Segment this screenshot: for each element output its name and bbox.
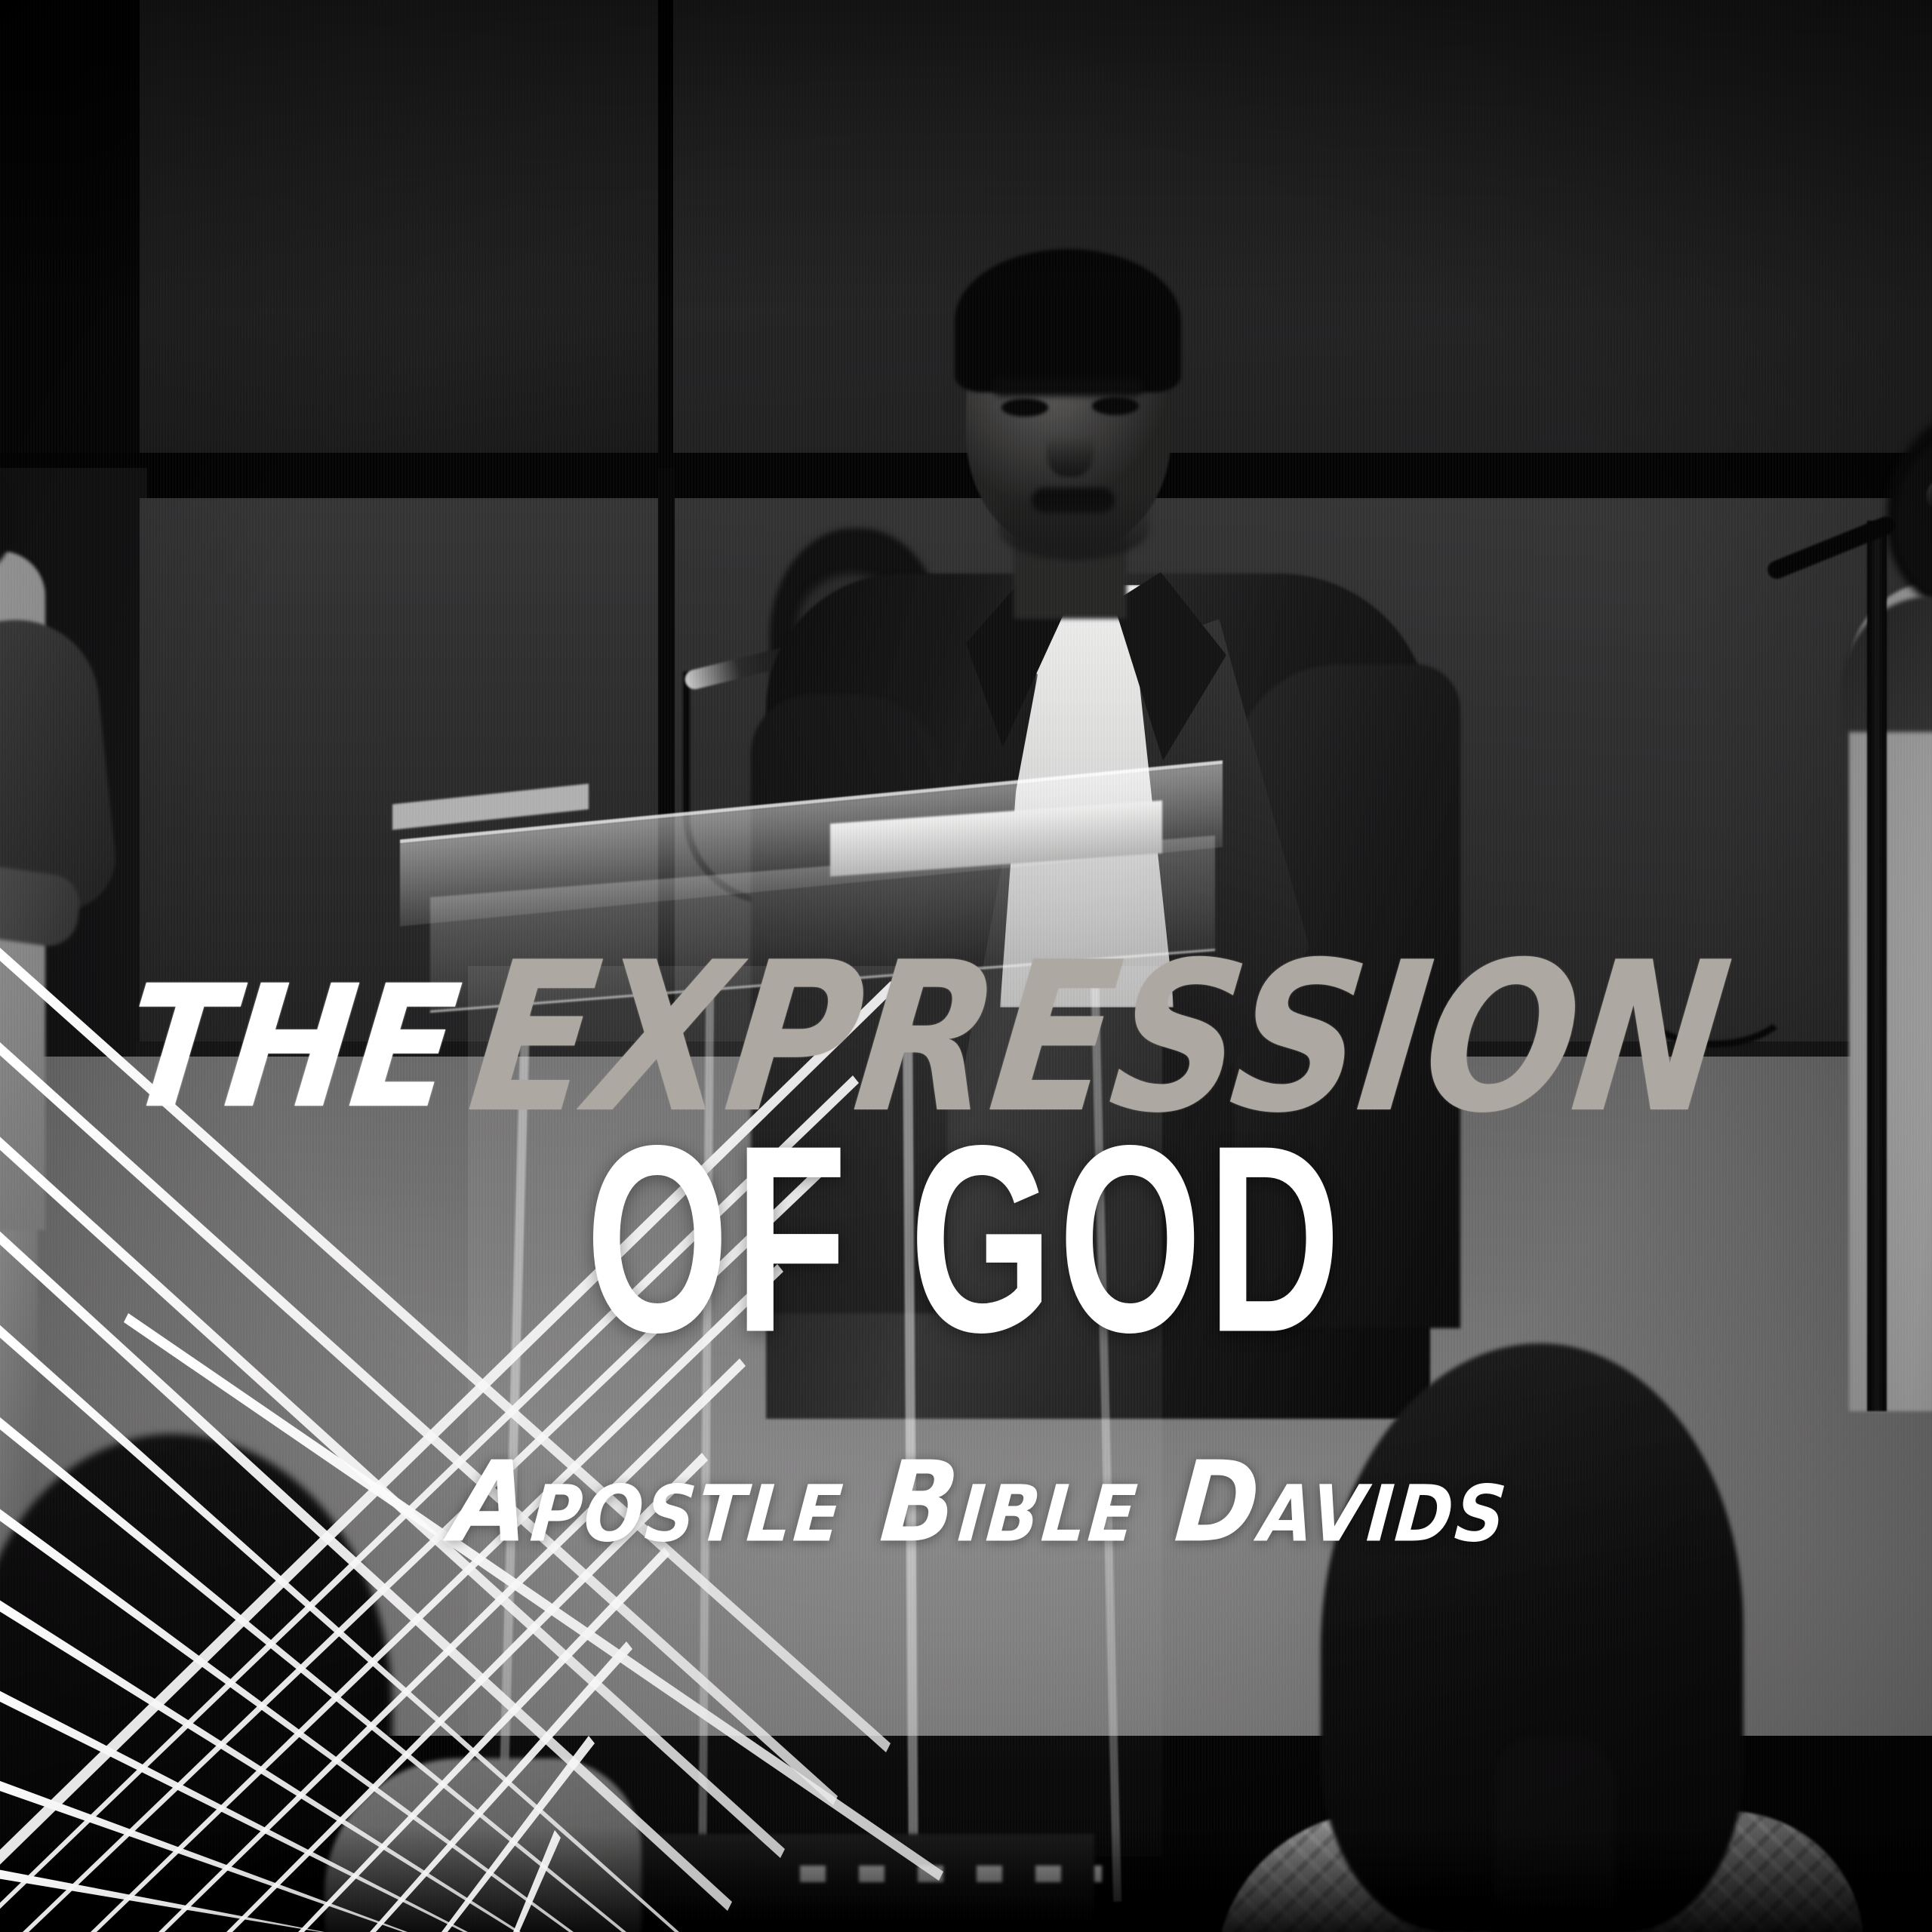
title-word-of-god: OF GOD <box>586 1106 1346 1372</box>
byline-line: Apostle Bible Davids <box>0 1453 1932 1552</box>
speaker-name-byline: Apostle Bible Davids <box>448 1447 1514 1558</box>
title-block: THEEXPRESSION OF GOD Apostle Bible David… <box>0 0 1932 1932</box>
title-line-two: OF GOD <box>0 1106 1932 1355</box>
poster-canvas: THEEXPRESSION OF GOD Apostle Bible David… <box>0 0 1932 1932</box>
